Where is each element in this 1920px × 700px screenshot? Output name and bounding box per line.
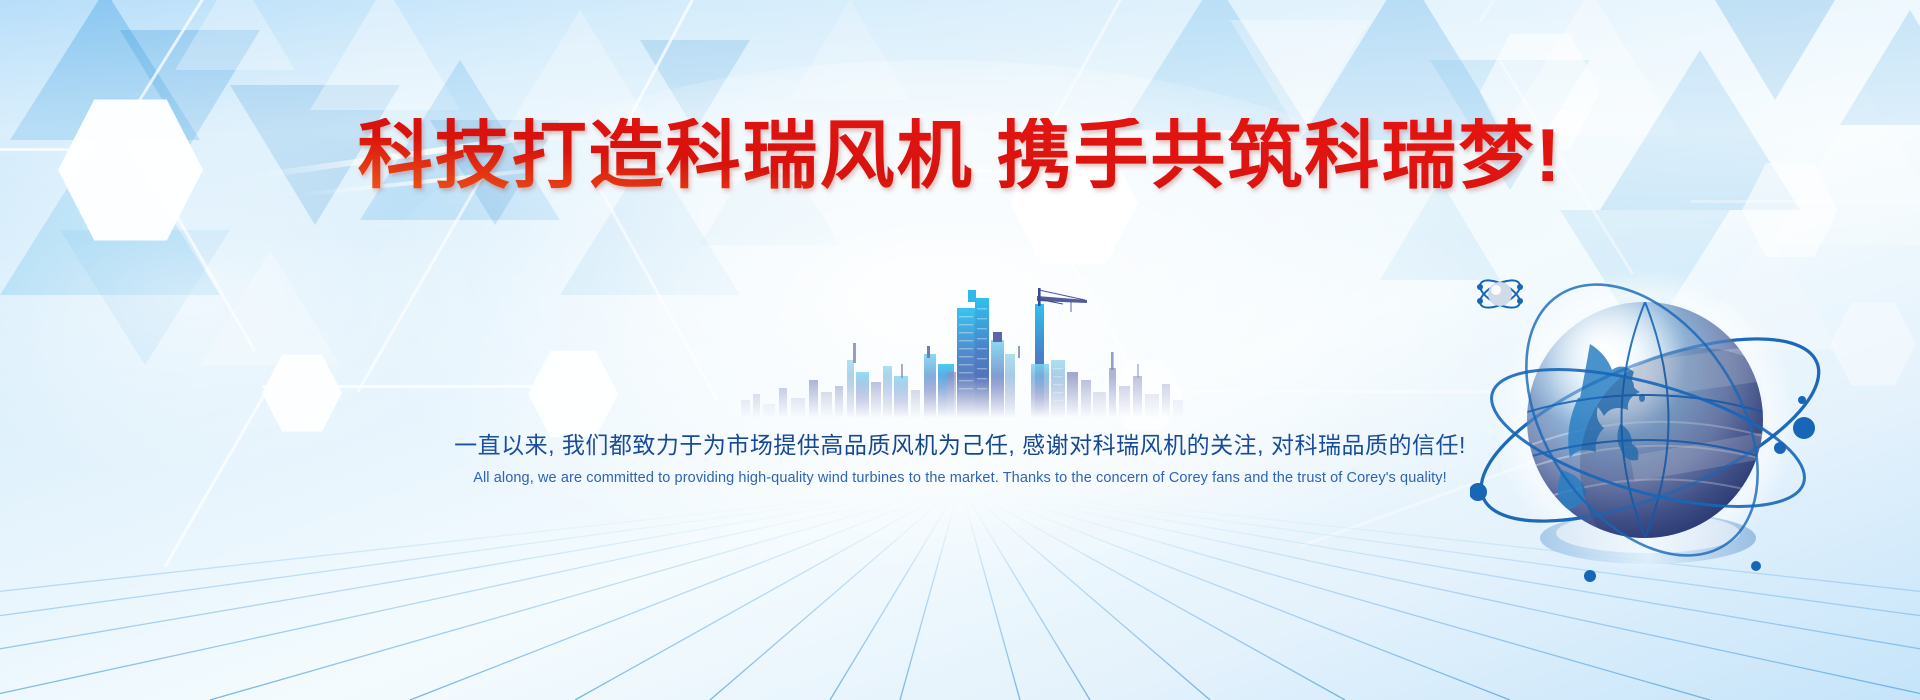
page-title: 科技打造科瑞风机 携手共筑科瑞梦! <box>0 118 1920 193</box>
subtitle-chinese: 一直以来, 我们都致力于为市场提供高品质风机为己任, 感谢对科瑞风机的关注, 对… <box>0 426 1920 460</box>
city-skyline-graphic <box>735 268 1185 418</box>
banner-hero: 科技打造科瑞风机 携手共筑科瑞梦! 一直以来, 我们都致力于为市场提供高品质风机… <box>0 0 1920 700</box>
subtitle-english: All along, we are committed to providing… <box>0 470 1920 486</box>
perspective-grid-floor <box>0 485 1920 700</box>
